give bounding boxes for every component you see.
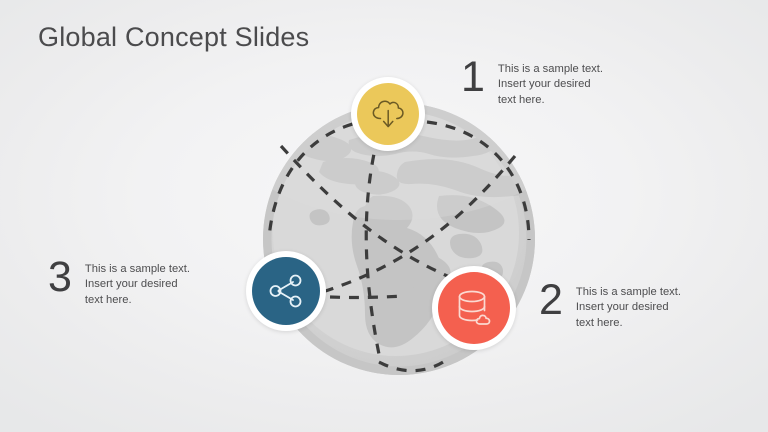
callout-1: 1 This is a sample text. Insert your des… [461, 60, 603, 108]
share-network-icon [267, 273, 305, 309]
database-cloud-icon [453, 288, 495, 328]
callout-2: 2 This is a sample text. Insert your des… [539, 283, 681, 331]
callout-3-number: 3 [48, 257, 72, 297]
node-1-disc [357, 83, 419, 145]
callout-1-text: This is a sample text. Insert your desir… [498, 60, 603, 108]
callout-2-number: 2 [539, 280, 563, 320]
callout-1-number: 1 [461, 57, 485, 97]
node-1-bubble[interactable] [351, 77, 425, 151]
node-2-bubble[interactable] [432, 266, 516, 350]
node-3-disc [252, 257, 320, 325]
page-title: Global Concept Slides [38, 22, 309, 53]
callout-3: 3 This is a sample text. Insert your des… [48, 260, 190, 308]
node-2-disc [438, 272, 510, 344]
node-3-bubble[interactable] [246, 251, 326, 331]
cloud-download-icon [370, 98, 406, 131]
slide-canvas: Global Concept Slides [0, 0, 768, 432]
callout-2-text: This is a sample text. Insert your desir… [576, 283, 681, 331]
callout-3-text: This is a sample text. Insert your desir… [85, 260, 190, 308]
